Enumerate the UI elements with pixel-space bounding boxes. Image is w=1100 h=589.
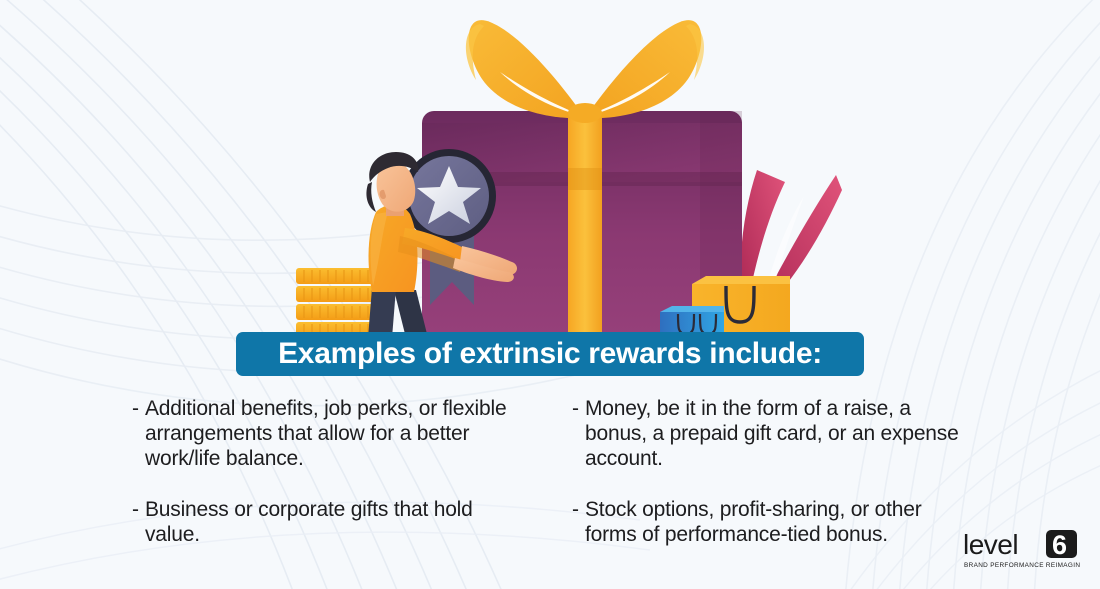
gold-coin-stacks xyxy=(296,268,384,338)
bullet-column-right: - Money, be it in the form of a raise, a… xyxy=(572,396,972,573)
list-item: - Stock options, profit-sharing, or othe… xyxy=(572,497,972,547)
page-title: Examples of extrinsic rewards include: xyxy=(278,339,822,369)
star-badge xyxy=(402,149,496,305)
ribbon-bow xyxy=(466,20,704,123)
bullet-text: Business or corporate gifts that hold va… xyxy=(145,497,532,547)
logo-mark-digit: 6 xyxy=(1052,530,1067,560)
heading-banner: Examples of extrinsic rewards include: xyxy=(236,332,864,376)
bullet-column-left: - Additional benefits, job perks, or fle… xyxy=(132,396,532,573)
slide-canvas: Examples of extrinsic rewards include: -… xyxy=(0,0,1100,589)
bullet-text: Stock options, profit-sharing, or other … xyxy=(585,497,972,547)
logo-tagline: BRAND PERFORMANCE REIMAGINED™ xyxy=(964,562,1080,569)
ribbon-vertical xyxy=(568,106,602,338)
man-character xyxy=(366,152,517,338)
list-item: - Additional benefits, job perks, or fle… xyxy=(132,396,532,471)
bullet-dash-icon: - xyxy=(132,497,139,547)
bullet-dash-icon: - xyxy=(572,497,579,547)
leaf-plants xyxy=(700,170,842,325)
list-item: - Business or corporate gifts that hold … xyxy=(132,497,532,547)
shopping-bags xyxy=(660,276,790,338)
bullet-dash-icon: - xyxy=(132,396,139,471)
bullet-text: Additional benefits, job perks, or flexi… xyxy=(145,396,532,471)
bullet-lists: - Additional benefits, job perks, or fle… xyxy=(132,396,972,573)
logo-wordmark: level xyxy=(963,529,1018,560)
gift-box xyxy=(422,111,742,336)
level6-logo: level 6 BRAND PERFORMANCE REIMAGINED™ xyxy=(962,527,1080,571)
bullet-text: Money, be it in the form of a raise, a b… xyxy=(585,396,972,471)
bullet-dash-icon: - xyxy=(572,396,579,471)
list-item: - Money, be it in the form of a raise, a… xyxy=(572,396,972,471)
